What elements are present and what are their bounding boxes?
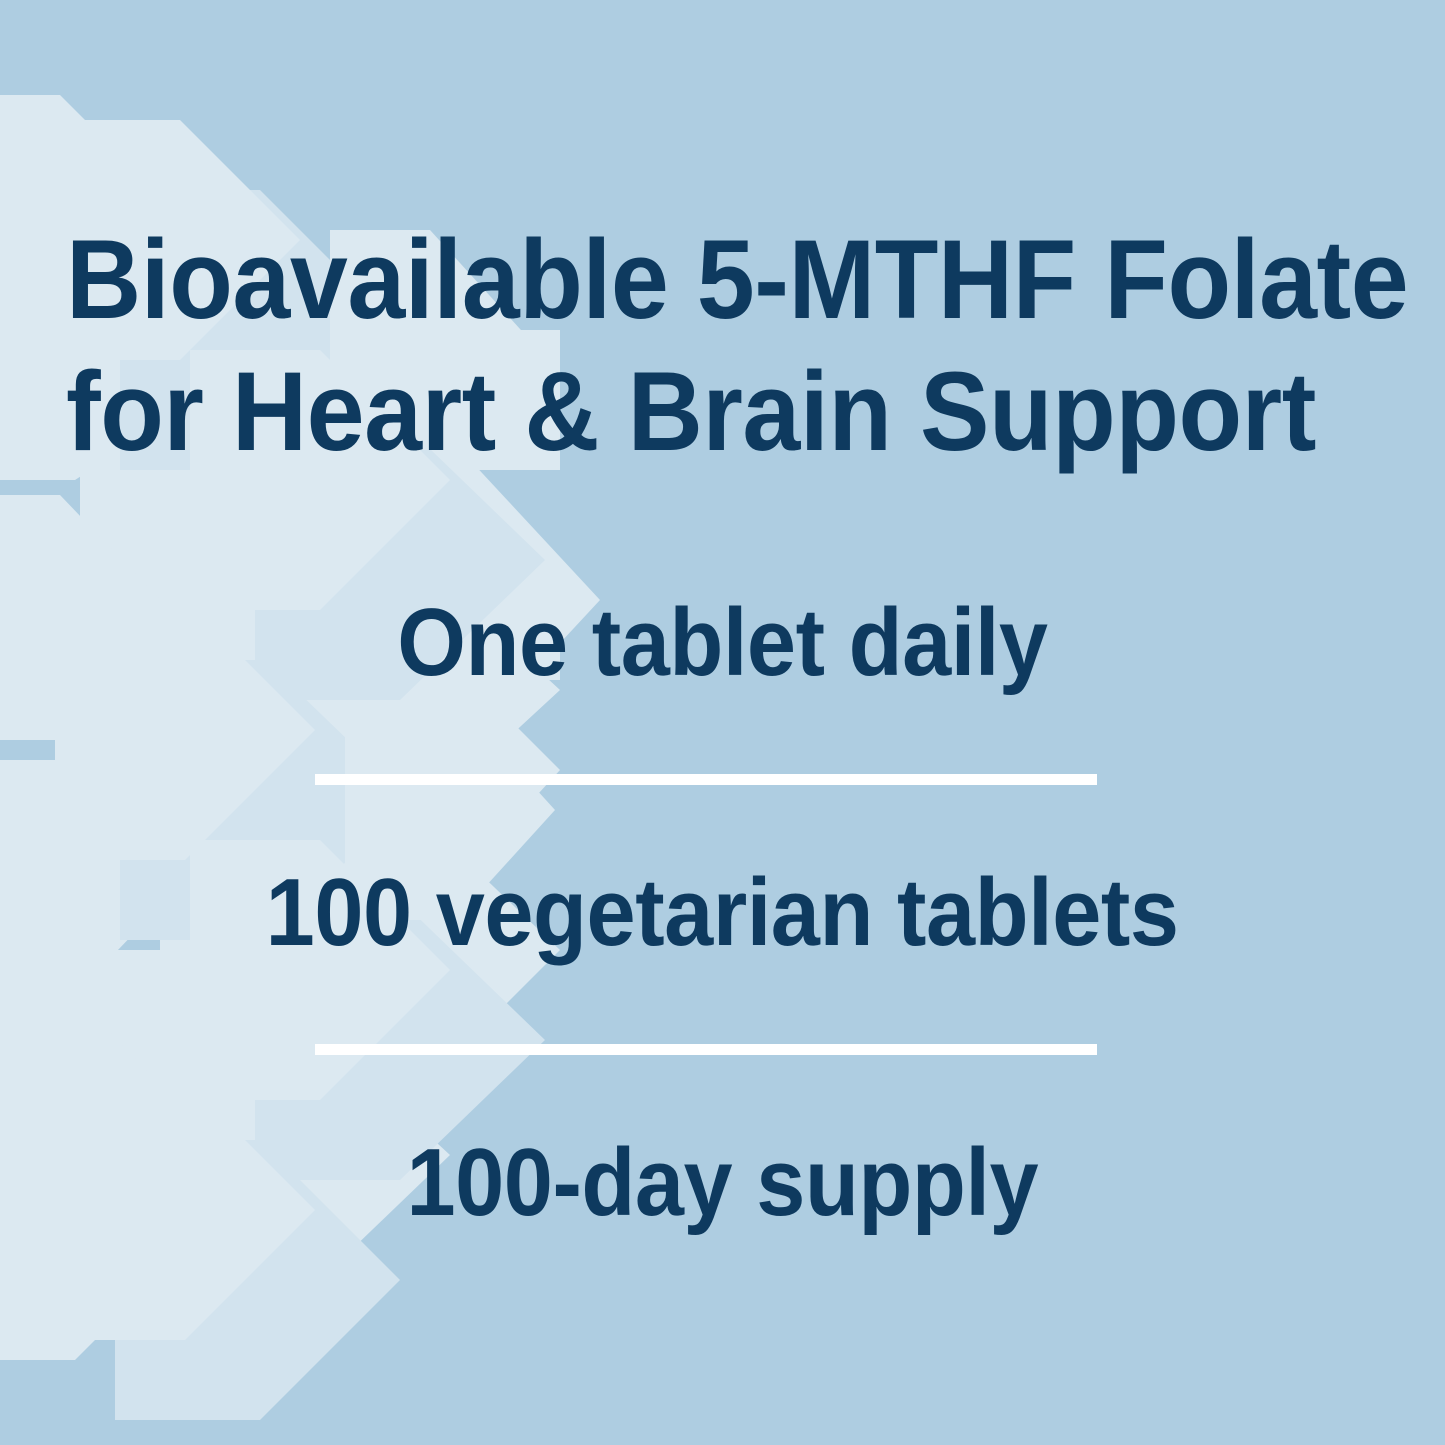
feature-count-label: 100 vegetarian tablets	[266, 858, 1179, 968]
divider-two	[315, 1044, 1097, 1055]
divider-one	[315, 774, 1097, 785]
feature-count: 100 vegetarian tablets	[0, 858, 1445, 968]
headline-line-1: Bioavailable 5-MTHF Folate	[66, 214, 1303, 346]
feature-supply-label: 100-day supply	[407, 1128, 1039, 1238]
content-layer: Bioavailable 5-MTHF Folate for Heart & B…	[0, 0, 1445, 1445]
page-title: Bioavailable 5-MTHF Folate for Heart & B…	[66, 214, 1303, 478]
headline-line-2: for Heart & Brain Support	[66, 346, 1303, 478]
feature-supply: 100-day supply	[0, 1128, 1445, 1238]
feature-dosage: One tablet daily	[0, 588, 1445, 698]
feature-dosage-label: One tablet daily	[397, 588, 1047, 698]
product-feature-card: Bioavailable 5-MTHF Folate for Heart & B…	[0, 0, 1445, 1445]
